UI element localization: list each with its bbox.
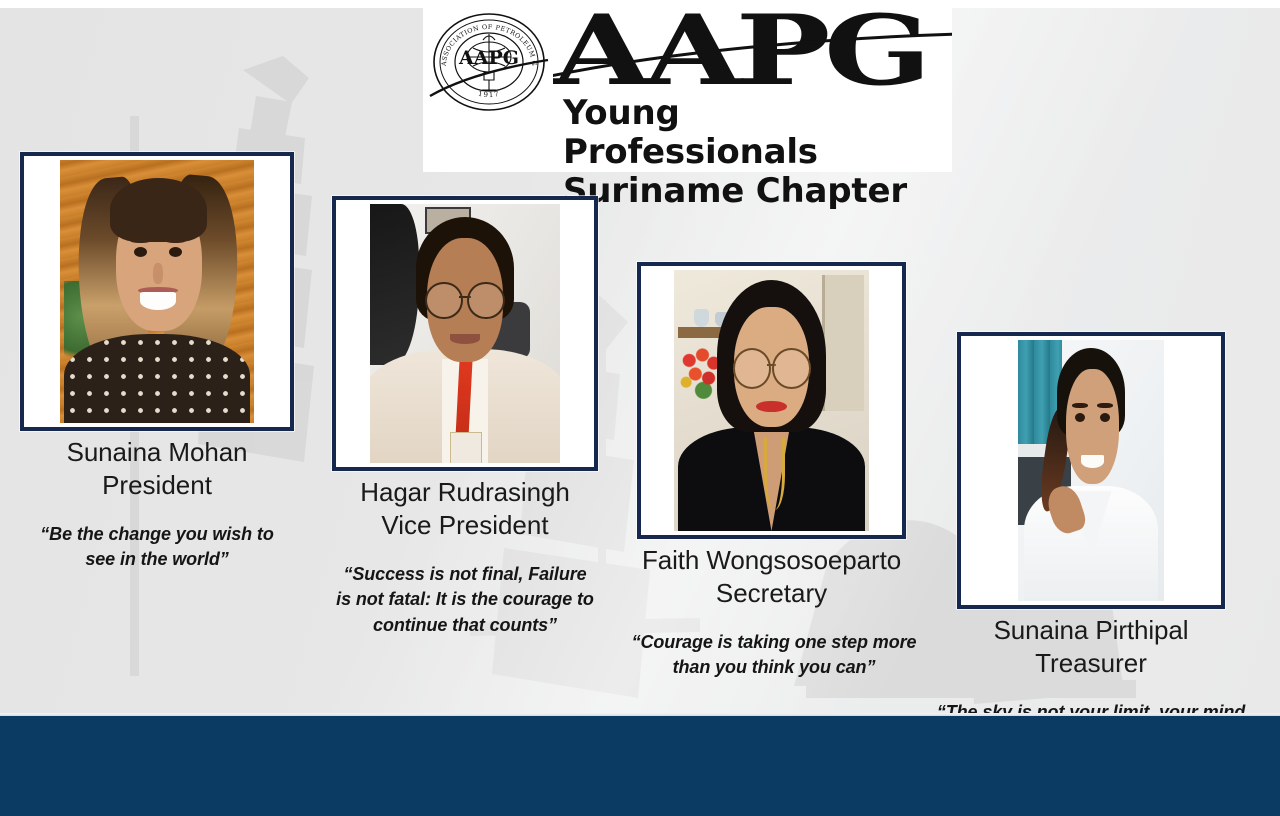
member-name: Sunaina Pirthipal: [957, 614, 1225, 647]
member-caption: Sunaina Mohan President “Be the change y…: [20, 436, 294, 573]
member-quote: “Be the change you wish to see in the wo…: [20, 522, 294, 573]
member-photo-faith-wongsosoeparto: [674, 270, 869, 531]
member-photo-hagar-rudrasingh: [370, 204, 560, 463]
aapg-logo-block: AMERICAN ASSOCIATION OF PETROLEUM GEOLOG…: [423, 0, 952, 172]
slide-canvas: AMERICAN ASSOCIATION OF PETROLEUM GEOLOG…: [0, 0, 1280, 816]
photo-frame: [20, 152, 294, 431]
logo-subtitle: Young Professionals Suriname Chapter: [563, 94, 943, 210]
member-photo-sunaina-pirthipal: [1018, 340, 1164, 601]
svg-text:AAPG: AAPG: [553, 8, 925, 100]
member-role: Treasurer: [957, 647, 1225, 680]
member-name: Sunaina Mohan: [20, 436, 294, 469]
member-caption: Hagar Rudrasingh Vice President “Success…: [332, 476, 598, 638]
member-quote: “Courage is taking one step more than yo…: [617, 630, 931, 681]
member-name: Hagar Rudrasingh: [332, 476, 598, 509]
svg-text:AAPG: AAPG: [458, 47, 519, 69]
aapg-seal-icon: AMERICAN ASSOCIATION OF PETROLEUM GEOLOG…: [428, 10, 550, 114]
footer-bar: [0, 716, 1280, 816]
member-quote: “Success is not final, Failure is not fa…: [332, 562, 598, 639]
svg-text:1917: 1917: [477, 90, 500, 99]
member-photo-sunaina-mohan: [60, 160, 254, 423]
member-caption: Faith Wongsosoeparto Secretary “Courage …: [637, 544, 906, 681]
aapg-wordmark: AAPG: [553, 8, 952, 100]
member-role: President: [20, 469, 294, 502]
photo-frame: [637, 262, 906, 539]
logo-subtitle-line2: Suriname Chapter: [563, 172, 943, 211]
logo-subtitle-line1: Young Professionals: [563, 94, 943, 172]
member-name: Faith Wongsosoeparto: [637, 544, 906, 577]
photo-frame: [332, 196, 598, 471]
member-role: Secretary: [637, 577, 906, 610]
member-role: Vice President: [332, 509, 598, 542]
photo-frame: [957, 332, 1225, 609]
